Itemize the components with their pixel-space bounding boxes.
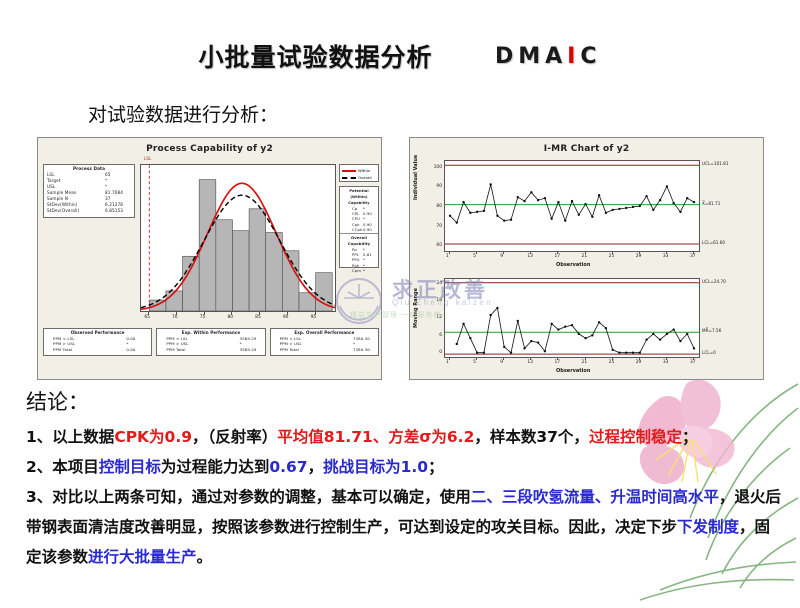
control-limit-label: MR̅=7.56 xyxy=(702,328,721,333)
within-capability-row: CCpk0.90 xyxy=(340,227,378,232)
legend-swatch xyxy=(342,177,356,179)
row-label: PPM Total xyxy=(274,347,299,352)
data-point xyxy=(584,337,586,339)
x-tick-label: 80 xyxy=(227,315,233,320)
row-value: 3589.29 xyxy=(240,347,262,352)
conclusion-item: 2、本项目控制目标为过程能力达到0.67，挑战目标为1.0； xyxy=(26,452,782,482)
data-point xyxy=(462,201,464,203)
process-capability-chart: Process Capability of y2 Process Data LS… xyxy=(37,137,382,380)
data-point xyxy=(544,350,546,352)
x-tick-label: 85 xyxy=(255,315,261,320)
performance-row: PPM Total7380.30 xyxy=(271,347,378,352)
dmaic-letter-m: M xyxy=(518,44,545,69)
data-point xyxy=(611,349,613,351)
x-tick-label: 37 xyxy=(690,360,696,365)
page-title: 小批量试验数据分析 xyxy=(198,38,432,74)
x-tick-mark xyxy=(585,357,586,360)
data-point xyxy=(489,183,491,185)
y-tick-label: 60 xyxy=(433,243,442,248)
x-tick-mark xyxy=(612,357,613,360)
subheading: 对试验数据进行分析： xyxy=(88,100,278,127)
control-limit-label: UCL=101.81 xyxy=(702,161,728,166)
capability-legend: WithinOverall xyxy=(339,164,379,182)
control-limit-label: LCL=0 xyxy=(702,350,716,355)
x-tick-mark xyxy=(476,357,477,360)
individuals-svg xyxy=(445,161,699,251)
data-point xyxy=(625,351,627,353)
conclusion-text-segment: 0.67 xyxy=(269,458,307,476)
row-label: PPM Total xyxy=(160,347,185,352)
conclusion-text-segment: 过程控制稳定 xyxy=(589,428,682,446)
histogram-bar xyxy=(216,220,233,311)
x-tick-mark xyxy=(557,357,558,360)
capability-histogram-plot xyxy=(140,164,336,312)
data-point xyxy=(550,323,552,325)
data-point xyxy=(618,351,620,353)
histogram-bar xyxy=(266,233,283,311)
data-point xyxy=(639,205,641,207)
data-point xyxy=(550,218,552,220)
y-tick-label: 18 xyxy=(433,298,442,303)
conclusion-text-segment: ； xyxy=(428,458,444,476)
dmaic-letter-c: C xyxy=(580,44,601,69)
conclusion-text-segment: 挑战目标为1.0 xyxy=(323,458,428,476)
row-value: 0.90 xyxy=(363,227,375,232)
within-capability-rows: Cp*CPL0.90CPU*Cpk0.90CCpk0.90 xyxy=(340,206,378,232)
y-tick-label: 24 xyxy=(433,281,442,286)
data-point xyxy=(659,199,661,201)
data-point xyxy=(544,197,546,199)
conclusion-text-segment: 平均值81.71、方差σ为6.2 xyxy=(277,428,474,446)
conclusion-item: 3、对比以上两条可知，通过对参数的调整，基本可以确定，使用二、三段吹氢流量、升温… xyxy=(26,482,782,572)
conclusion-text-segment: ，样本数37个， xyxy=(474,428,589,446)
dmaic-letter-a: A xyxy=(545,44,567,69)
x-tick-mark xyxy=(530,357,531,360)
histogram-bar xyxy=(166,291,183,311)
conclusions-items: 1、以上数据CPK为0.9，（反射率）平均值81.71、方差σ为6.2，样本数3… xyxy=(26,422,782,572)
data-point xyxy=(517,196,519,198)
x-tick-mark xyxy=(503,357,504,360)
data-point xyxy=(672,202,674,204)
x-tick-mark xyxy=(315,312,316,315)
data-point xyxy=(564,325,566,327)
performance-table: Observed PerformancePPM < LSL0.00PPM > U… xyxy=(43,328,152,356)
data-point xyxy=(537,199,539,201)
capability-histogram-svg xyxy=(141,165,335,311)
data-point xyxy=(557,201,559,203)
x-tick-label: 5 xyxy=(473,254,476,259)
x-tick-label: 95 xyxy=(311,315,317,320)
x-tick-mark xyxy=(666,357,667,360)
x-tick-mark xyxy=(585,251,586,254)
performance-table-header: Exp. Within Performance xyxy=(157,329,264,336)
dmaic-badge: DMAIC xyxy=(495,44,602,69)
conclusion-number: 1、 xyxy=(26,428,52,446)
data-point xyxy=(449,215,451,217)
x-tick-mark xyxy=(204,312,205,315)
conclusion-text-segment: CPK为0.9 xyxy=(114,428,192,446)
x-tick-label: 21 xyxy=(582,360,588,365)
y-tick-label: 80 xyxy=(433,204,442,209)
legend-swatch xyxy=(342,170,356,172)
dmaic-letter-d: D xyxy=(495,44,518,69)
data-point xyxy=(578,333,580,335)
x-tick-mark xyxy=(231,312,232,315)
data-point xyxy=(456,221,458,223)
legend-item: Overall xyxy=(342,174,376,181)
data-point xyxy=(584,203,586,205)
legend-label: Within xyxy=(358,168,370,173)
conclusion-text-segment: 进行大批量生产 xyxy=(88,548,197,566)
x-tick-label: 65 xyxy=(144,315,150,320)
x-tick-mark xyxy=(148,312,149,315)
y-tick-label: 70 xyxy=(433,224,442,229)
slide-header: 小批量试验数据分析 DMAIC xyxy=(0,38,800,74)
x-tick-label: 17 xyxy=(554,254,560,259)
data-point xyxy=(571,200,573,202)
conclusion-number: 3、 xyxy=(26,488,52,506)
data-point xyxy=(686,333,688,335)
individuals-plot xyxy=(444,160,700,252)
data-point xyxy=(517,320,519,322)
data-point xyxy=(503,219,505,221)
data-point xyxy=(591,216,593,218)
data-point xyxy=(645,195,647,197)
performance-table-header: Exp. Overall Performance xyxy=(271,329,378,336)
data-point xyxy=(496,307,498,309)
x-tick-mark xyxy=(449,357,450,360)
data-point xyxy=(557,328,559,330)
data-point xyxy=(645,338,647,340)
conclusion-text-segment: 对比以上两条可知，通过对参数的调整，基本可以确定，使用 xyxy=(52,488,471,506)
x-tick-mark xyxy=(176,312,177,315)
row-value: 0.00 xyxy=(126,347,148,352)
data-point xyxy=(618,208,620,210)
overall-capability-row: Cpm* xyxy=(340,268,378,273)
histogram-bar xyxy=(282,251,299,311)
x-tick-label: 75 xyxy=(200,315,206,320)
row-label: PPM Total xyxy=(47,347,72,352)
series-line xyxy=(457,308,694,353)
x-tick-mark xyxy=(639,357,640,360)
capability-chart-title: Process Capability of y2 xyxy=(38,144,381,154)
histogram-bar xyxy=(232,231,249,311)
x-tick-label: 9 xyxy=(500,254,503,259)
x-tick-mark xyxy=(693,251,694,254)
overall-capability-rows: Pp*PPL0.81PPU*Ppk*Cpm* xyxy=(340,247,378,273)
control-limit-label: LCL=61.60 xyxy=(702,240,725,245)
x-tick-label: 33 xyxy=(663,254,669,259)
x-tick-label: 25 xyxy=(609,360,615,365)
legend-item: Within xyxy=(342,167,376,174)
data-point xyxy=(462,323,464,325)
x-tick-label: 17 xyxy=(554,360,560,365)
data-point xyxy=(625,207,627,209)
row-value: 7380.30 xyxy=(353,347,375,352)
conclusion-text-segment: 为过程能力达到 xyxy=(161,458,270,476)
row-label: CCpk xyxy=(343,227,362,232)
conclusion-text-segment: ，（反射率） xyxy=(192,428,277,446)
x-tick-mark xyxy=(259,312,260,315)
data-point xyxy=(476,351,478,353)
data-point xyxy=(693,347,695,349)
x-tick-mark xyxy=(476,251,477,254)
x-tick-label: 25 xyxy=(609,254,615,259)
x-tick-label: 90 xyxy=(283,315,289,320)
data-point xyxy=(605,212,607,214)
row-label: Cpm xyxy=(343,268,361,273)
data-point xyxy=(686,197,688,199)
data-point xyxy=(666,333,668,335)
data-point xyxy=(578,214,580,216)
data-point xyxy=(659,338,661,340)
data-point xyxy=(523,347,525,349)
data-point xyxy=(672,328,674,330)
conclusion-text-segment: ， xyxy=(308,458,324,476)
conclusion-text-segment: 控制目标 xyxy=(99,458,161,476)
imr-chart: I-MR Chart of y2 Individual Value 100908… xyxy=(409,137,764,380)
y-tick-label: 0 xyxy=(433,350,442,355)
capability-indices-box: Potential (Within) Capability Cp*CPL0.90… xyxy=(339,186,379,268)
data-point xyxy=(598,321,600,323)
x-tick-label: 1 xyxy=(446,360,449,365)
data-point xyxy=(666,185,668,187)
data-point xyxy=(605,327,607,329)
x-tick-mark xyxy=(612,251,613,254)
x-tick-label: 5 xyxy=(473,360,476,365)
within-capability-header: Potential (Within) Capability xyxy=(340,187,378,206)
series-line xyxy=(450,185,694,223)
x-tick-label: 70 xyxy=(172,315,178,320)
row-label: StDev(Overall) xyxy=(47,208,79,214)
moving-range-axis-label: Moving Range xyxy=(413,258,419,328)
conclusion-text-segment: 。 xyxy=(197,548,213,566)
x-tick-mark xyxy=(287,312,288,315)
conclusions-block: 结论： 1、以上数据CPK为0.9，（反射率）平均值81.71、方差σ为6.2，… xyxy=(26,386,782,572)
performance-row: PPM Total3589.29 xyxy=(157,347,264,352)
x-tick-label: 13 xyxy=(527,254,533,259)
conclusion-number: 2、 xyxy=(26,458,52,476)
data-point xyxy=(483,210,485,212)
x-tick-mark xyxy=(449,251,450,254)
performance-table: Exp. Within PerformancePPM < LSL3589.29P… xyxy=(156,328,265,356)
process-data-rows: LSL65Target*USL*Sample Mean81.7084Sample… xyxy=(44,172,134,214)
x-tick-label: 29 xyxy=(636,360,642,365)
moving-range-x-axis-label: Observation xyxy=(556,368,590,374)
conclusion-text-segment: 下发制度 xyxy=(677,518,739,536)
data-point xyxy=(530,340,532,342)
y-tick-label: 6 xyxy=(433,333,442,338)
row-value: * xyxy=(363,268,375,273)
data-point xyxy=(523,200,525,202)
data-point xyxy=(489,314,491,316)
individual-value-axis-label: Individual Value xyxy=(413,137,419,200)
data-point xyxy=(679,340,681,342)
data-point xyxy=(632,206,634,208)
data-point xyxy=(652,333,654,335)
data-point xyxy=(679,211,681,213)
conclusion-text-segment: ； xyxy=(682,428,698,446)
x-tick-mark xyxy=(557,251,558,254)
x-tick-label: 9 xyxy=(500,360,503,365)
data-point xyxy=(456,343,458,345)
lsl-marker-label: LSL xyxy=(144,156,151,161)
data-point xyxy=(483,351,485,353)
individuals-x-axis-label: Observation xyxy=(556,262,590,268)
x-tick-label: 37 xyxy=(690,254,696,259)
overall-capability-header: Overall Capability xyxy=(340,233,378,247)
conclusion-text-segment: 二、三段吹氢流量、升温时间高水平 xyxy=(471,488,719,506)
x-tick-mark xyxy=(639,251,640,254)
control-limit-label: UCL=24.70 xyxy=(702,279,726,284)
x-tick-mark xyxy=(666,251,667,254)
x-tick-label: 29 xyxy=(636,254,642,259)
control-limit-label: X̅=81.71 xyxy=(702,201,720,206)
process-data-box: Process Data LSL65Target*USL*Sample Mean… xyxy=(43,164,135,218)
histogram-bar xyxy=(249,209,266,311)
legend-label: Overall xyxy=(358,175,372,180)
dmaic-letter-i: I xyxy=(567,44,580,69)
data-point xyxy=(476,211,478,213)
slide-canvas: 小批量试验数据分析 DMAIC 对试验数据进行分析： Process Capab… xyxy=(0,0,800,600)
data-point xyxy=(591,334,593,336)
moving-range-svg xyxy=(445,279,699,357)
y-tick-label: 12 xyxy=(433,315,442,320)
imr-chart-title: I-MR Chart of y2 xyxy=(410,144,763,154)
performance-tables: Observed PerformancePPM < LSL0.00PPM > U… xyxy=(43,328,379,356)
process-data-header: Process Data xyxy=(44,165,134,172)
data-point xyxy=(639,351,641,353)
performance-table: Exp. Overall PerformancePPM < LSL7380.30… xyxy=(270,328,379,356)
x-tick-label: 13 xyxy=(527,360,533,365)
data-point xyxy=(503,346,505,348)
data-point xyxy=(632,351,634,353)
y-tick-label: 90 xyxy=(433,184,442,189)
data-point xyxy=(537,341,539,343)
data-point xyxy=(652,209,654,211)
data-point xyxy=(510,351,512,353)
x-tick-mark xyxy=(530,251,531,254)
data-point xyxy=(510,218,512,220)
conclusion-text-segment: 本项目 xyxy=(52,458,99,476)
performance-row: PPM Total0.00 xyxy=(44,347,151,352)
x-tick-label: 33 xyxy=(663,360,669,365)
data-point xyxy=(571,324,573,326)
conclusion-text-segment: 以上数据 xyxy=(52,428,114,446)
data-point xyxy=(598,194,600,196)
moving-range-plot xyxy=(444,278,700,358)
data-point xyxy=(469,212,471,214)
conclusion-item: 1、以上数据CPK为0.9，（反射率）平均值81.71、方差σ为6.2，样本数3… xyxy=(26,422,782,452)
data-point xyxy=(496,215,498,217)
performance-table-header: Observed Performance xyxy=(44,329,151,336)
data-point xyxy=(530,191,532,193)
data-point xyxy=(611,209,613,211)
x-tick-mark xyxy=(503,251,504,254)
data-point xyxy=(469,337,471,339)
data-point xyxy=(693,201,695,203)
row-value: 6.85153 xyxy=(105,208,131,214)
conclusions-title: 结论： xyxy=(26,386,782,416)
x-tick-mark xyxy=(693,357,694,360)
x-tick-label: 21 xyxy=(582,254,588,259)
process-data-row: StDev(Overall)6.85153 xyxy=(44,208,134,214)
x-tick-label: 1 xyxy=(446,254,449,259)
y-tick-label: 100 xyxy=(433,165,442,170)
data-point xyxy=(564,219,566,221)
